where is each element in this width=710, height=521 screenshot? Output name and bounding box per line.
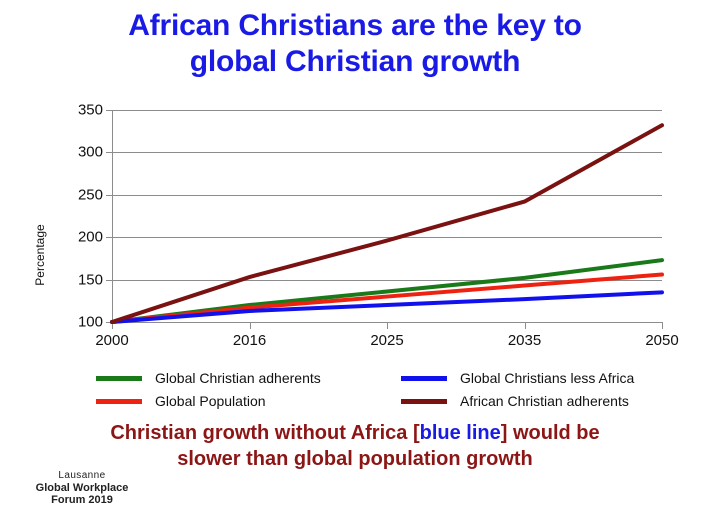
x-axis-tick-mark <box>387 322 388 329</box>
lausanne-logo: Lausanne Global Workplace Forum 2019 <box>22 470 142 506</box>
series-lines <box>112 110 662 322</box>
logo-line-3: Forum 2019 <box>22 494 142 506</box>
chart-legend: Global Christian adherentsGlobal Populat… <box>0 366 710 414</box>
legend-color-swatch <box>96 376 142 381</box>
legend-color-swatch <box>401 376 447 381</box>
y-axis-tick-label: 150 <box>78 271 103 288</box>
x-axis-tick-label: 2025 <box>370 332 403 349</box>
caption-line-1: Christian growth without Africa [blue li… <box>25 420 685 446</box>
x-axis-tick-label: 2035 <box>508 332 541 349</box>
caption-text-after: ] would be <box>501 422 600 444</box>
page-title-line-2: global Christian growth <box>0 44 710 80</box>
page-title-line-1: African Christians are the key to <box>0 8 710 44</box>
y-axis-tick-label: 200 <box>78 229 103 246</box>
legend-color-swatch <box>96 399 142 404</box>
logo-line-2: Global Workplace <box>22 482 142 494</box>
legend-item[interactable]: Global Population <box>96 391 266 411</box>
x-axis-tick-mark <box>250 322 251 329</box>
legend-label: African Christian adherents <box>460 393 629 409</box>
legend-label: Global Population <box>155 393 266 409</box>
legend-item[interactable]: African Christian adherents <box>401 391 629 411</box>
legend-item[interactable]: Global Christians less Africa <box>401 368 634 388</box>
y-axis-tick-label: 350 <box>78 102 103 119</box>
y-axis-tick-label: 250 <box>78 186 103 203</box>
y-axis-tick-label: 100 <box>78 314 103 331</box>
caption-highlight: blue line <box>420 422 501 444</box>
y-axis-tick-label: 300 <box>78 144 103 161</box>
caption: Christian growth without Africa [blue li… <box>25 420 685 472</box>
logo-line-1: Lausanne <box>22 470 142 482</box>
x-axis-tick-label: 2016 <box>233 332 266 349</box>
legend-item[interactable]: Global Christian adherents <box>96 368 321 388</box>
line-chart: Percentage 100150200250300350 2000201620… <box>0 96 710 351</box>
x-axis-tick-mark <box>662 322 663 329</box>
caption-line-2: slower than global population growth <box>25 446 685 472</box>
legend-color-swatch <box>401 399 447 404</box>
page-title: African Christians are the key to global… <box>0 8 710 80</box>
plot-area: 100150200250300350 20002016202520352050 <box>112 110 662 322</box>
x-axis-tick-label: 2050 <box>645 332 678 349</box>
caption-text-before: Christian growth without Africa [ <box>110 422 419 444</box>
x-axis-tick-label: 2000 <box>95 332 128 349</box>
legend-label: Global Christian adherents <box>155 370 321 386</box>
y-axis-title: Percentage <box>33 195 47 315</box>
legend-label: Global Christians less Africa <box>460 370 634 386</box>
x-axis-tick-mark <box>525 322 526 329</box>
